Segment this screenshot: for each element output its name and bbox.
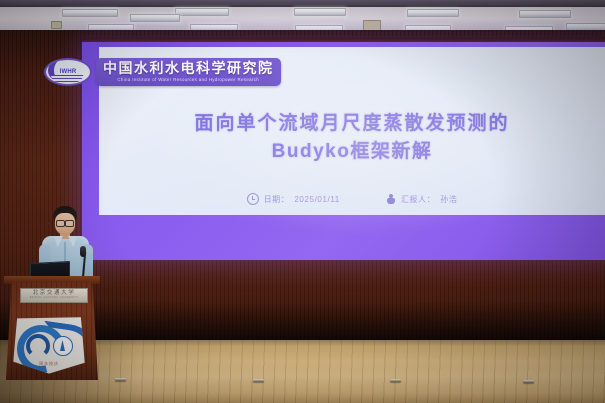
slide-presenter-label: 汇报人： (401, 194, 435, 205)
institute-name-en: China Institute of Water Resources and H… (117, 77, 259, 82)
institute-logo: IWHR 中国水利水电科学研究院 China Institute of Wate… (44, 57, 281, 87)
recessed-light-icon (407, 9, 459, 17)
slide-title: 面向单个流域月尺度蒸散发预测的 Budyko框架新解 (99, 110, 605, 165)
wave-lines-shape (51, 75, 83, 82)
podium-nameplate-en: BEIJING JIAOTONG UNIVERSITY (30, 297, 78, 300)
microphone-icon (80, 246, 86, 257)
podium-nameplate: 北京交通大学 BEIJING JIAOTONG UNIVERSITY (20, 288, 88, 303)
conference-hall-photo: IWHR 中国水利水电科学研究院 China Institute of Wate… (0, 0, 605, 403)
ceiling-upper-strip (0, 0, 605, 7)
institute-name-cn: 中国水利水电科学研究院 (103, 61, 274, 76)
recessed-light-icon (175, 8, 229, 16)
glasses-icon (55, 220, 75, 225)
floor-socket-icon (523, 380, 534, 383)
iwhr-abbreviation: IWHR (60, 69, 77, 75)
slide-presenter: 汇报人： 孙浩 (386, 194, 458, 205)
person-icon (386, 194, 396, 205)
slide-date-label: 日期： (264, 194, 290, 205)
slide-date: 日期： 2025/01/11 (247, 193, 340, 205)
floor-socket-icon (253, 379, 264, 382)
recessed-light-icon (130, 14, 180, 22)
glasses-bridge (47, 223, 51, 224)
floor-socket-icon (390, 379, 401, 382)
slide-presenter-value: 孙浩 (440, 194, 457, 205)
clock-icon (247, 193, 259, 205)
ceiling-speaker-box (51, 21, 62, 29)
slide-date-value: 2025/01/11 (294, 195, 339, 204)
iwhr-emblem-icon: IWHR (44, 58, 92, 86)
slide-title-line2: Budyko框架新解 (99, 138, 605, 166)
emblem-seal-icon (53, 336, 73, 356)
recessed-light-icon (62, 9, 118, 17)
recessed-light-icon (294, 8, 346, 16)
recessed-light-icon (519, 10, 571, 18)
floor-socket-icon (115, 378, 126, 381)
slide-title-line1: 面向单个流域月尺度蒸散发预测的 (99, 110, 605, 138)
slide-meta-row: 日期： 2025/01/11 汇报人： 孙浩 (99, 193, 605, 205)
institute-name-plate: 中国水利水电科学研究院 China Institute of Water Res… (96, 58, 281, 86)
